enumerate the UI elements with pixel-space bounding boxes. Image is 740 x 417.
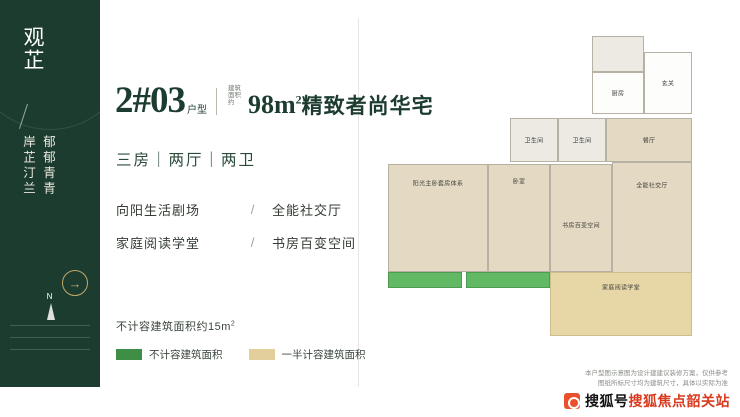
feature-separator: /: [234, 202, 272, 217]
watermark-black-text: 搜狐号: [585, 391, 629, 411]
legend-item: 不计容建筑面积: [116, 347, 223, 362]
legend-swatch-tan: [249, 349, 275, 360]
plan-room-balcony-top: [592, 36, 644, 72]
feature-left: 家庭阅读学堂: [116, 233, 234, 252]
area-note-sup: 2: [231, 320, 235, 327]
legend-swatch-green: [116, 349, 142, 360]
plan-room-bath-1: 卫生间: [510, 118, 558, 162]
plan-room-entry: 玄关: [644, 52, 692, 114]
legend-item: 一半计容建筑面积: [249, 347, 366, 362]
unit-area: 98m2: [248, 92, 302, 118]
feature-right: 全能社交厅: [272, 200, 342, 219]
layout-summary: 三房｜两厅｜两卫: [116, 148, 256, 170]
sohu-logo-icon: [564, 393, 580, 409]
plan-room-label-kitchen: 厨房: [593, 89, 643, 98]
plan-room-bedroom-2: 卧室: [488, 164, 550, 272]
legend-label: 不计容建筑面积: [149, 347, 223, 362]
plan-room-label-master-suite: 阳光主卧套房体系: [389, 179, 487, 188]
plan-room-label-family-reading: 家庭阅读学堂: [551, 283, 691, 292]
feature-right: 书房百变空间: [272, 233, 356, 252]
headline-divider: [216, 88, 217, 115]
brand-sidebar: 观芷 岸芷汀兰 郁郁青青 → N 产品单位图: [0, 0, 100, 417]
plan-room-kitchen: 厨房: [592, 72, 644, 114]
feature-list: 向阳生活剧场 / 全能社交厅 家庭阅读学堂 / 书房百变空间: [116, 200, 356, 266]
plan-room-label-entry: 玄关: [645, 79, 691, 88]
compass-north-label: N: [36, 292, 64, 301]
area-caption: 建筑面积约: [228, 85, 246, 106]
compass-needle: [47, 303, 55, 320]
plan-area-family-reading: 家庭阅读学堂: [550, 272, 692, 336]
unit-area-value: 98m: [248, 90, 296, 119]
sidebar-badge-graphic: [4, 319, 96, 375]
decorative-circle: [0, 0, 100, 130]
plan-room-study: 书房百变空间: [550, 164, 612, 272]
area-note: 不计容建筑面积约15m2: [116, 318, 235, 334]
plan-area-green-1: [388, 272, 462, 288]
legend-label: 一半计容建筑面积: [282, 347, 366, 362]
arrow-right-icon[interactable]: →: [62, 270, 88, 296]
plan-room-label-bath-1: 卫生间: [511, 136, 557, 145]
plan-room-bath-2: 卫生间: [558, 118, 606, 162]
area-note-text: 不计容建筑面积约15m: [116, 321, 231, 333]
plan-room-label-bath-2: 卫生间: [559, 136, 605, 145]
plan-room-dining: 餐厅: [606, 118, 692, 162]
plan-room-label-study: 书房百变空间: [551, 221, 611, 230]
unit-number-suffix: 户型: [187, 106, 207, 116]
feature-separator: /: [234, 235, 272, 250]
unit-number: 2#03: [115, 82, 185, 119]
legend: 不计容建筑面积 一半计容建筑面积: [116, 347, 392, 362]
plan-room-label-living-hall: 全能社交厅: [613, 181, 691, 190]
plan-room-label-bedroom-2: 卧室: [489, 177, 549, 186]
watermark-red-text: 搜狐焦点韶关站: [629, 391, 731, 411]
plan-room-master-suite: 阳光主卧套房体系: [388, 164, 488, 272]
floor-plan: 厨房 玄关 卫生间 卫生间 餐厅 阳光主卧套房体系 卧室 书房百变空间 全能社交…: [380, 34, 702, 374]
watermark: 搜狐号 搜狐焦点韶关站: [564, 391, 730, 411]
brand-title: 观芷: [18, 26, 48, 96]
footer-bar: 搜狐号 搜狐焦点韶关站: [0, 387, 740, 417]
feature-left: 向阳生活剧场: [116, 200, 234, 219]
feature-row: 向阳生活剧场 / 全能社交厅: [116, 200, 356, 219]
plan-area-green-2: [466, 272, 550, 288]
feature-row: 家庭阅读学堂 / 书房百变空间: [116, 233, 356, 252]
brand-subtitle-right: 岸芷汀兰: [20, 135, 36, 205]
plan-room-label-dining: 餐厅: [607, 136, 691, 145]
brand-subtitle-left: 郁郁青青: [40, 135, 56, 205]
